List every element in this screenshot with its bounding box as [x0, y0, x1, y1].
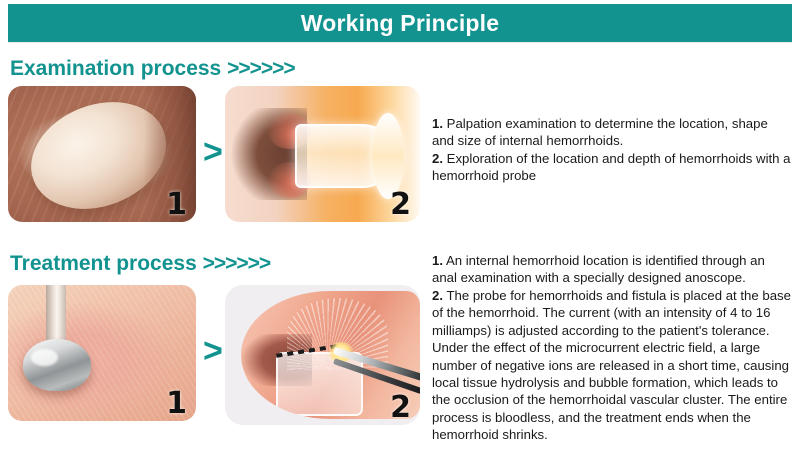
panel-number-badge: 2 [390, 190, 411, 220]
item-number: 2. [432, 151, 443, 166]
panel-number-badge: 2 [390, 393, 411, 423]
illustration-treatment-panel-1: 1 [8, 285, 196, 421]
section-heading-treatment: Treatment process >>>>>> [10, 253, 270, 274]
description-item: 2. The probe for hemorrhoids and fistula… [432, 287, 792, 444]
item-text: Palpation examination to determine the l… [432, 116, 768, 148]
item-number: 1. [432, 116, 443, 131]
page-banner: Working Principle [8, 4, 792, 42]
description-item: 2. Exploration of the location and depth… [432, 150, 792, 185]
panel-number-badge: 1 [166, 190, 187, 220]
chevron-separator-icon-examination: > [203, 135, 223, 169]
page-title: Working Principle [301, 12, 500, 35]
description-item: 1. An internal hemorrhoid location is id… [432, 252, 792, 287]
section-heading-label-treatment: Treatment process [10, 252, 197, 275]
anoscope-body-shape [276, 352, 363, 415]
anoscope-device-shape [295, 124, 393, 188]
illustration-examination-panel-1: 1 [8, 86, 196, 222]
panel-number-badge: 1 [166, 389, 187, 419]
item-text: An internal hemorrhoid location is ident… [432, 253, 765, 285]
item-number: 2. [432, 288, 443, 303]
chevron-separator-icon-treatment: > [203, 334, 223, 368]
description-item: 1. Palpation examination to determine th… [432, 115, 792, 150]
probe-electrode-head-shape [23, 339, 91, 391]
description-examination: 1. Palpation examination to determine th… [432, 115, 792, 185]
section-heading-label-examination: Examination process [10, 57, 221, 80]
item-text: The probe for hemorrhoids and fistula is… [432, 288, 791, 442]
item-text: Exploration of the location and depth of… [432, 151, 791, 183]
illustration-examination-panel-2: 2 [225, 86, 420, 222]
illustration-treatment-panel-2: 2 [225, 285, 420, 425]
description-treatment: 1. An internal hemorrhoid location is id… [432, 252, 792, 444]
section-heading-arrows-treatment: >>>>>> [203, 252, 271, 275]
section-heading-arrows-examination: >>>>>> [227, 57, 295, 80]
item-number: 1. [432, 253, 443, 268]
section-heading-examination: Examination process >>>>>> [10, 58, 295, 79]
